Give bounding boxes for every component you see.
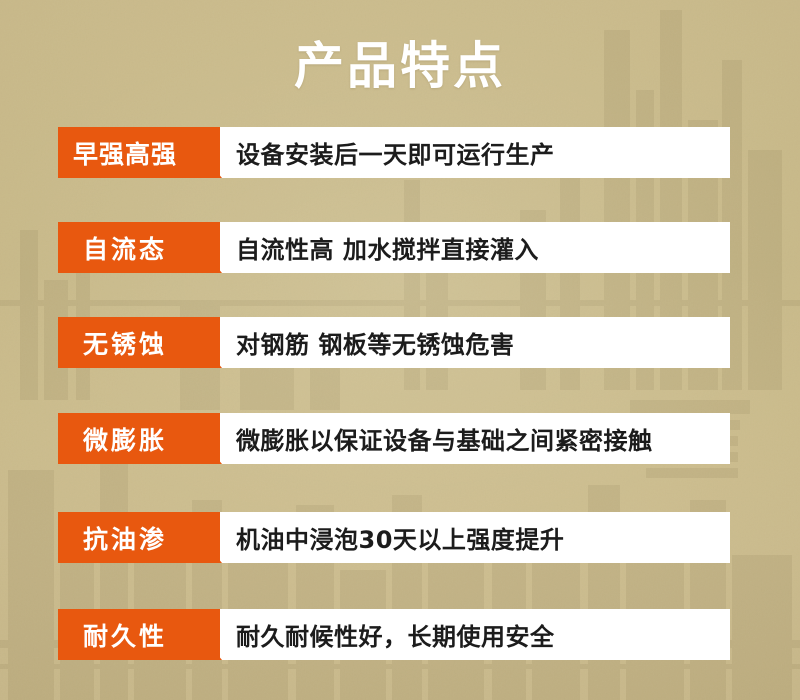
feature-row: 抗油渗 机油中浸泡30天以上强度提升 [58, 512, 730, 563]
feature-tag-label: 抗油渗 [58, 512, 192, 563]
page-title: 产品特点 [0, 36, 800, 96]
feature-tag-label: 早强高强 [58, 127, 192, 178]
feature-row: 无锈蚀 对钢筋 钢板等无锈蚀危害 [58, 317, 730, 368]
feature-description: 对钢筋 钢板等无锈蚀危害 [236, 317, 514, 368]
feature-description: 自流性高 加水搅拌直接灌入 [236, 222, 539, 273]
feature-tag-label: 微膨胀 [58, 413, 192, 464]
feature-description: 机油中浸泡30天以上强度提升 [236, 512, 564, 563]
feature-description: 设备安装后一天即可运行生产 [236, 127, 555, 178]
feature-row: 自流态 自流性高 加水搅拌直接灌入 [58, 222, 730, 273]
feature-description: 微膨胀以保证设备与基础之间紧密接触 [236, 413, 653, 464]
feature-row: 早强高强 设备安装后一天即可运行生产 [58, 127, 730, 178]
feature-tag-label: 无锈蚀 [58, 317, 192, 368]
feature-tag-label: 自流态 [58, 222, 192, 273]
feature-row: 耐久性 耐久耐候性好，长期使用安全 [58, 609, 730, 660]
feature-row: 微膨胀 微膨胀以保证设备与基础之间紧密接触 [58, 413, 730, 464]
product-features-poster: 产品特点 早强高强 设备安装后一天即可运行生产 自流态 自流性高 加水搅拌直接灌… [0, 0, 800, 700]
feature-tag-label: 耐久性 [58, 609, 192, 660]
feature-description: 耐久耐候性好，长期使用安全 [236, 609, 555, 660]
